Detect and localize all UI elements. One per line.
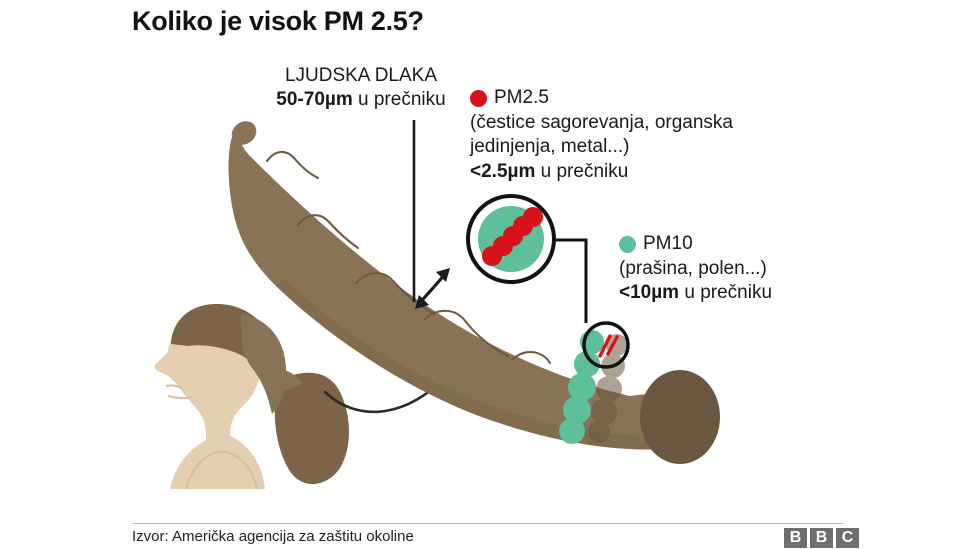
legend-pm10-size-suffix: u prečniku	[684, 282, 772, 303]
source-text: Izvor: Američka agencija za zaštitu okol…	[132, 528, 414, 545]
bbc-logo-letter-2: B	[810, 528, 833, 548]
mouth-line	[166, 386, 182, 388]
legend-pm25: PM2.5 (čestice sagorevanja, organska jed…	[470, 86, 780, 185]
legend-pm10: PM10 (prašina, polen...) <10µm u prečnik…	[619, 232, 849, 306]
hair-label-title: LJUDSKA DLAKA	[246, 64, 476, 88]
legend-pm10-size-value: <10µm	[619, 282, 679, 303]
hair-strand-cut-end	[640, 370, 720, 464]
infographic-canvas: Koliko je visok PM 2.5?	[0, 0, 976, 549]
hair-label-block: LJUDSKA DLAKA 50-70µm u prečniku	[246, 64, 476, 113]
hair-label-size-suffix: u prečniku	[358, 89, 446, 110]
footer-divider	[132, 523, 844, 524]
woman-profile-illustration	[155, 304, 349, 489]
bbc-logo: B B C	[784, 528, 859, 548]
legend-pm10-desc-line1: (prašina, polen...)	[619, 257, 849, 282]
green-dot-icon	[619, 236, 636, 253]
legend-pm10-size: <10µm u prečniku	[619, 281, 849, 306]
hair-diameter-arrow	[415, 268, 450, 309]
legend-pm25-desc-line1: (čestice sagorevanja, organska	[470, 111, 780, 136]
legend-pm25-desc-line2: jedinjenja, metal...)	[470, 135, 780, 160]
inset-magnified-view	[468, 196, 554, 282]
inset-leader-line	[552, 240, 586, 323]
legend-pm25-header: PM2.5	[470, 86, 780, 111]
bbc-logo-letter-1: B	[784, 528, 807, 548]
legend-pm10-header: PM10	[619, 232, 849, 257]
legend-pm25-size-suffix: u prečniku	[541, 161, 629, 182]
legend-pm25-size: <2.5µm u prečniku	[470, 160, 780, 185]
legend-pm25-size-value: <2.5µm	[470, 161, 535, 182]
legend-pm25-name: PM2.5	[494, 86, 549, 111]
hair-label-size-value: 50-70µm	[276, 89, 352, 110]
bbc-logo-letter-3: C	[836, 528, 859, 548]
hair-label-size: 50-70µm u prečniku	[246, 88, 476, 112]
legend-pm10-name: PM10	[643, 232, 693, 257]
red-dot-icon	[470, 90, 487, 107]
